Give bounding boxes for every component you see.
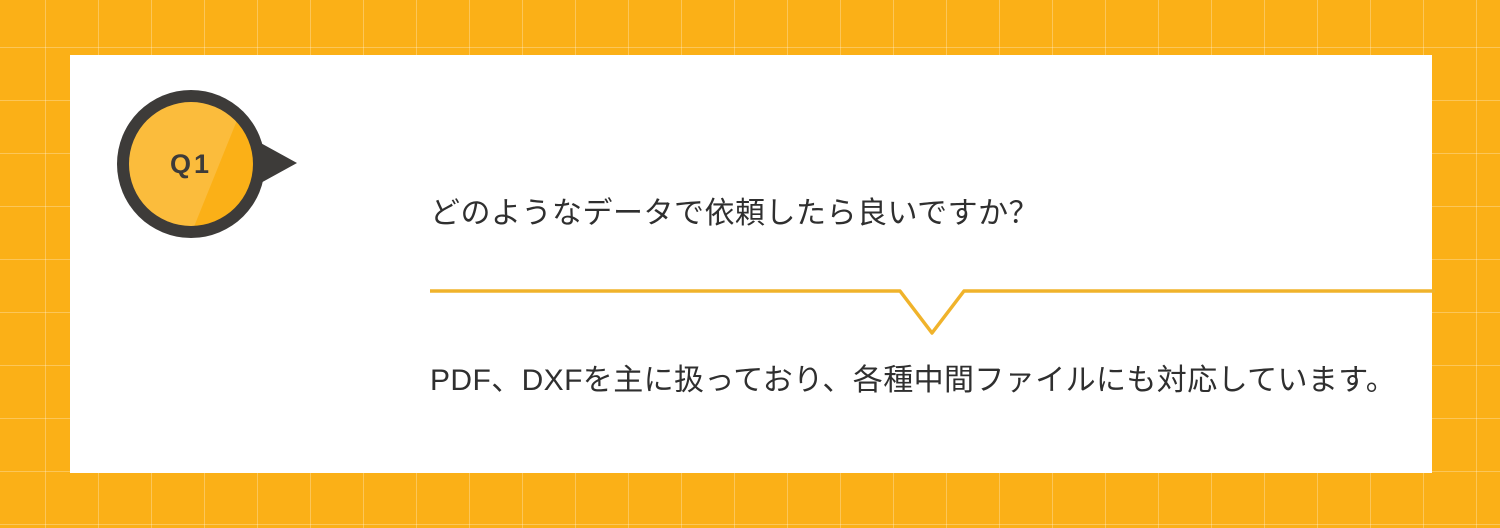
divider-with-chevron [430, 289, 1435, 341]
question-badge: Q1 [117, 90, 357, 240]
answer-text: PDF、DXFを主に扱っており、各種中間ファイルにも対応しています。 [430, 355, 1430, 407]
faq-page: Q1 どのようなデータで依頼したら良いですか？ PDF、DXFを主に扱っており、… [0, 0, 1500, 528]
faq-card: Q1 どのようなデータで依頼したら良いですか？ PDF、DXFを主に扱っており、… [70, 55, 1432, 473]
question-text: どのようなデータで依頼したら良いですか？ [430, 191, 1390, 236]
divider-chevron-icon [430, 289, 1435, 341]
badge-label: Q1 [117, 90, 265, 238]
